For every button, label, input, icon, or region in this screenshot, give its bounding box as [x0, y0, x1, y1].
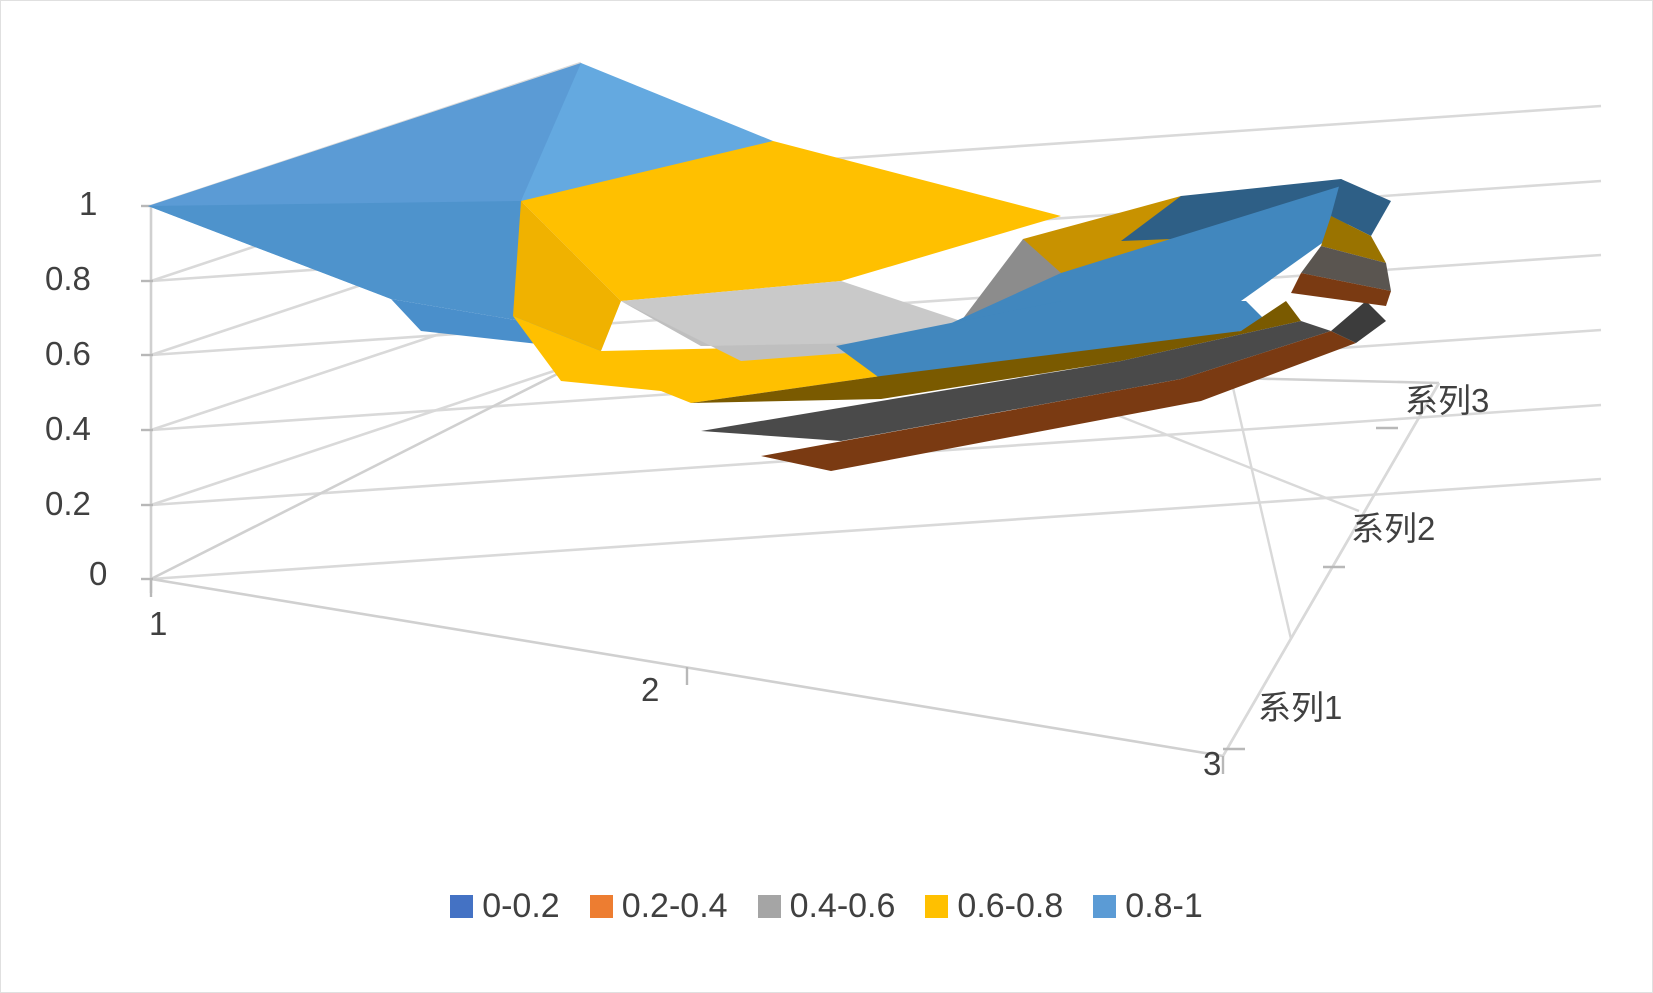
z-tick-label-08: 0.8 [45, 262, 91, 295]
x-tick-label-1: 1 [149, 607, 167, 640]
legend-swatch-0.8-1 [1093, 895, 1116, 918]
legend-swatch-0-0.2 [450, 895, 473, 918]
floor-depth-line-2 [1231, 379, 1291, 639]
x-tick-label-3: 3 [1203, 747, 1221, 780]
legend-label-0.4-0.6: 0.4-0.6 [790, 889, 896, 923]
legend-label-0.2-0.4: 0.2-0.4 [622, 889, 728, 923]
legend-swatch-0.4-0.6 [758, 895, 781, 918]
surface-plot-svg [1, 1, 1653, 993]
legend-label-0.8-1: 0.8-1 [1125, 889, 1203, 923]
surface-mesh [148, 63, 1391, 471]
chart-legend: 0-0.20.2-0.40.4-0.60.6-0.80.8-1 [1, 889, 1652, 923]
floor-left-edge [151, 362, 581, 579]
side-gridline-02 [151, 362, 581, 505]
legend-label-0.6-0.8: 0.6-0.8 [957, 889, 1063, 923]
legend-swatch-0.2-0.4 [590, 895, 613, 918]
series-axis-label-1: 系列1 [1258, 691, 1342, 724]
chart-container: 1 0.8 0.6 0.4 0.2 0 1 2 3 系列3 系列2 系列1 0-… [0, 0, 1653, 993]
z-tick-label-04: 0.4 [45, 412, 91, 445]
legend-entry-0.8-1[interactable]: 0.8-1 [1093, 889, 1203, 923]
legend-entry-0.2-0.4[interactable]: 0.2-0.4 [590, 889, 728, 923]
series-axis-label-2: 系列2 [1351, 512, 1435, 545]
series-axis-label-3: 系列3 [1405, 384, 1489, 417]
legend-entry-0.4-0.6[interactable]: 0.4-0.6 [758, 889, 896, 923]
legend-entry-0-0.2[interactable]: 0-0.2 [450, 889, 560, 923]
z-tick-label-02: 0.2 [45, 487, 91, 520]
legend-swatch-0.6-0.8 [925, 895, 948, 918]
z-tick-label-06: 0.6 [45, 337, 91, 370]
z-tick-label-1: 1 [79, 187, 97, 220]
x-tick-label-2: 2 [641, 673, 659, 706]
z-tick-label-0: 0 [89, 557, 107, 590]
legend-label-0-0.2: 0-0.2 [482, 889, 560, 923]
legend-entry-0.6-0.8[interactable]: 0.6-0.8 [925, 889, 1063, 923]
